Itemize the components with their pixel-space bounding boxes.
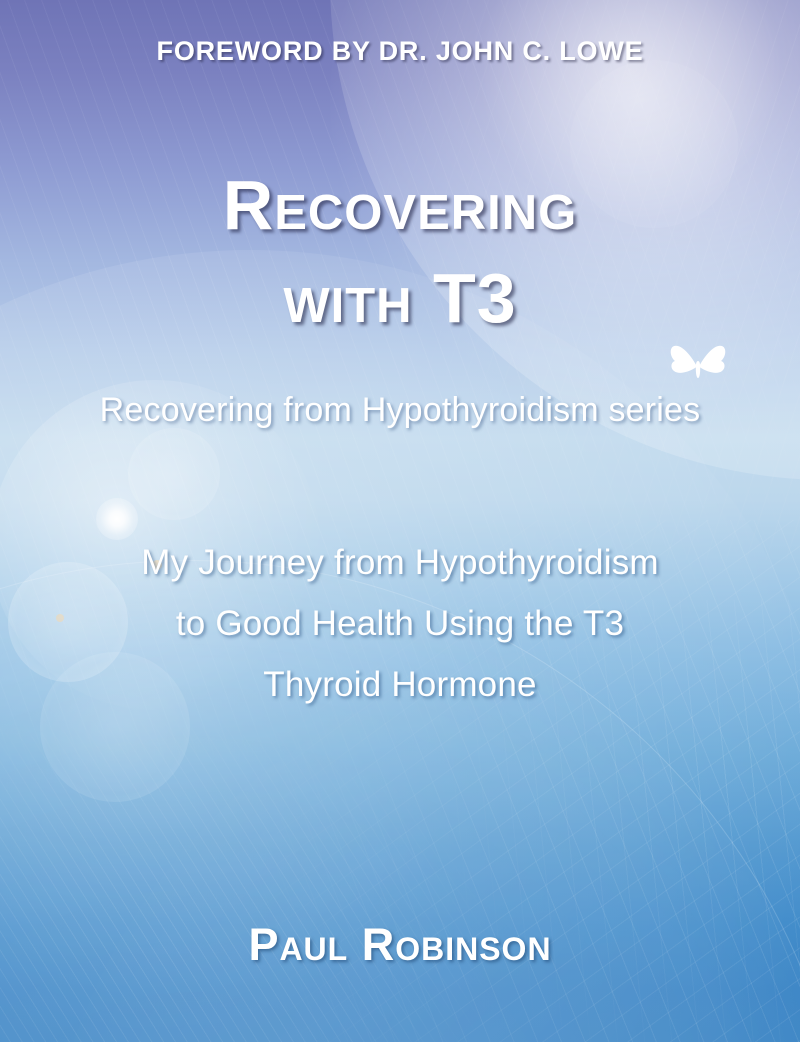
- crosshatch-pattern-left: [0, 720, 560, 1042]
- author-name: Paul Robinson: [0, 919, 800, 971]
- book-title-line-2: with T3: [0, 258, 800, 338]
- background-artwork: [0, 0, 800, 1042]
- subtitle-line-3: Thyroid Hormone: [0, 665, 800, 705]
- subtitle-line-2: to Good Health Using the T3: [0, 604, 800, 644]
- light-flare-core-left: [96, 498, 138, 540]
- bokeh-circle-two: [128, 428, 220, 520]
- foreword-credit: FOREWORD BY DR. JOHN C. LOWE: [0, 36, 800, 67]
- subtitle-line-1: My Journey from Hypothyroidism: [0, 543, 800, 583]
- book-title-line-1: Recovering: [0, 165, 800, 245]
- butterfly-icon: [669, 341, 729, 391]
- series-subtitle: Recovering from Hypothyroidism series: [0, 391, 800, 430]
- book-cover: FOREWORD BY DR. JOHN C. LOWE Recovering …: [0, 0, 800, 1042]
